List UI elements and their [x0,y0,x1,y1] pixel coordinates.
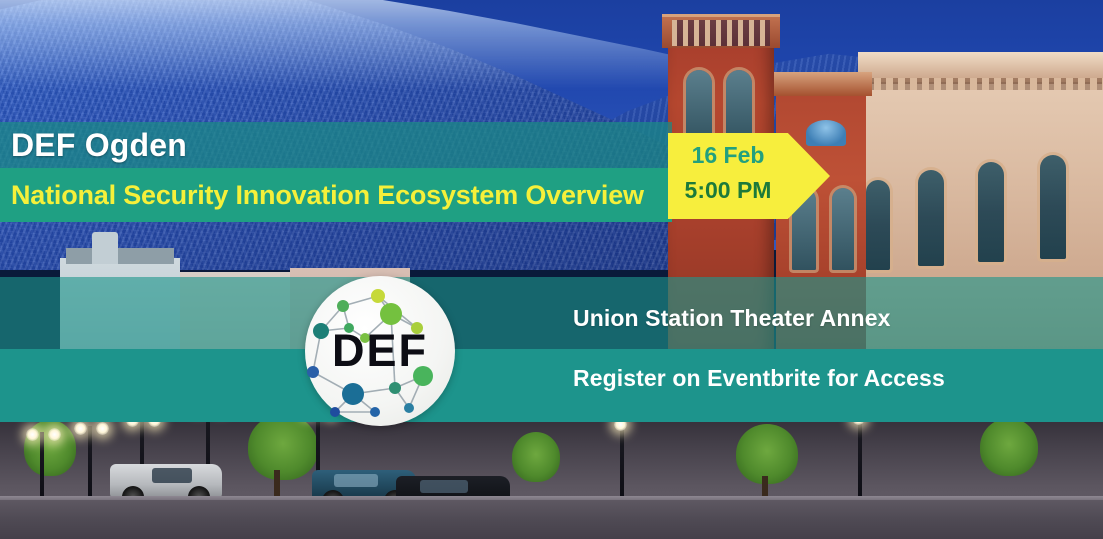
event-date: 16 Feb [668,139,788,171]
street-tree [736,424,798,484]
building-pale-left-roof [66,248,174,264]
logo-wordmark: DEF [305,328,455,374]
road [0,500,1103,539]
building-brick-mid-cornice [770,72,872,96]
venue-text: Union Station Theater Annex [573,305,890,332]
street-tree [512,432,560,482]
arched-window [832,188,854,270]
page-title: DEF Ogden [11,124,187,166]
street-tree [980,418,1038,476]
arched-window [978,162,1004,262]
arched-window [866,180,890,270]
vehicle-window [152,468,192,483]
info-band-upper [0,277,1103,349]
background-photo [0,0,1103,539]
arched-window [918,170,944,266]
event-time: 5:00 PM [668,174,788,206]
building-tower [92,232,118,264]
arched-window [686,70,712,144]
building-ornament [806,120,846,146]
vehicle-window [420,480,468,493]
building-cream-dentils [862,78,1103,90]
registration-text: Register on Eventbrite for Access [573,365,945,392]
event-subtitle: National Security Innovation Ecosystem O… [11,173,644,217]
building-balustrade [672,20,770,46]
vehicle-window [334,474,378,487]
arched-window [726,70,752,144]
def-logo: DEF [305,276,455,426]
event-banner: DEF Ogden National Security Innovation E… [0,0,1103,539]
arched-window [1040,155,1066,259]
